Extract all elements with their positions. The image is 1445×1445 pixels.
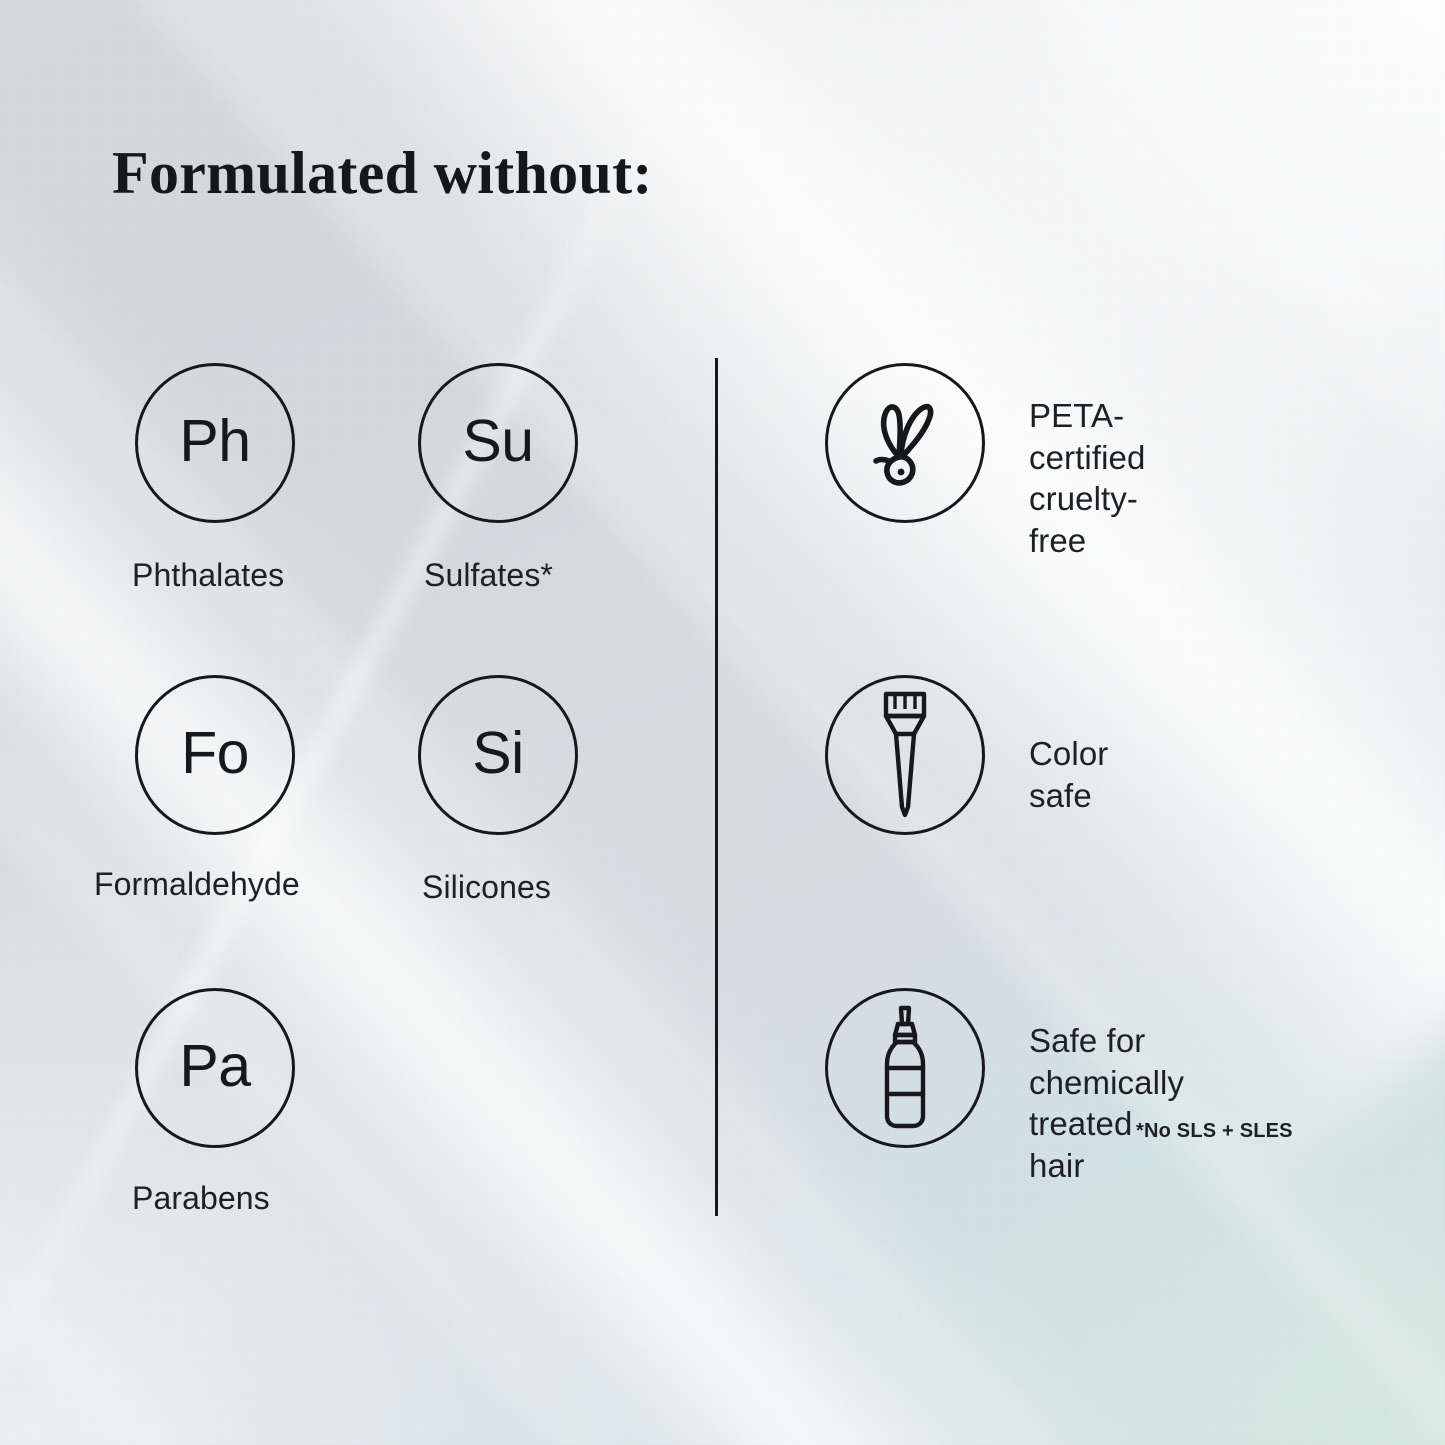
promo-graphic: Formulated without: PhPhthalatesSuSulfat… bbox=[0, 0, 1445, 1445]
bottle-icon bbox=[874, 1004, 936, 1132]
bunny-icon bbox=[866, 397, 944, 489]
free-from-abbreviation: Fo bbox=[181, 724, 249, 783]
free-from-label: Formaldehyde bbox=[94, 866, 300, 903]
free-from-badge: Fo bbox=[135, 675, 295, 835]
free-from-label: Sulfates* bbox=[424, 557, 553, 594]
brush-icon bbox=[876, 689, 934, 821]
free-from-badge: Su bbox=[418, 363, 578, 523]
page-title: Formulated without: bbox=[112, 142, 653, 205]
benefit-label: Color safe bbox=[1029, 733, 1108, 816]
benefit-badge bbox=[825, 988, 985, 1148]
free-from-abbreviation: Pa bbox=[179, 1037, 250, 1096]
benefit-label: PETA-certified cruelty-free bbox=[1029, 395, 1145, 561]
free-from-label: Silicones bbox=[422, 869, 551, 906]
free-from-abbreviation: Su bbox=[462, 412, 533, 471]
free-from-badge: Si bbox=[418, 675, 578, 835]
free-from-label: Phthalates bbox=[132, 557, 284, 594]
free-from-label: Parabens bbox=[132, 1180, 270, 1217]
free-from-abbreviation: Ph bbox=[179, 412, 250, 471]
free-from-badge: Pa bbox=[135, 988, 295, 1148]
benefit-badge bbox=[825, 363, 985, 523]
free-from-abbreviation: Si bbox=[472, 724, 523, 783]
benefit-label: Safe for chemically treated hair bbox=[1029, 1020, 1184, 1186]
free-from-badge: Ph bbox=[135, 363, 295, 523]
column-divider bbox=[715, 358, 718, 1216]
benefit-badge bbox=[825, 675, 985, 835]
footnote-sulfates: *No SLS + SLES bbox=[1136, 1120, 1293, 1143]
